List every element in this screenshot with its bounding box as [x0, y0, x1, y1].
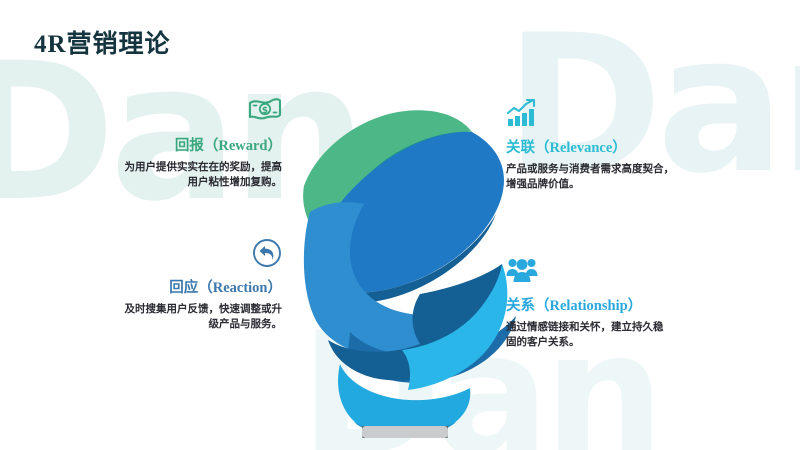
page-title: 4R营销理论 — [34, 24, 171, 60]
bar-chart-growth-icon — [506, 98, 716, 132]
concept-block-reward: $ 回报（Reward） 为用户提供实实在在的奖励，提高 用户粘性增加复购。 — [86, 96, 282, 190]
concept-block-relevance: 关联（Relevance） 产品或服务与消费者需求高度契合， 增强品牌价值。 — [506, 98, 716, 192]
block-body-line: 级产品与服务。 — [86, 317, 282, 332]
block-heading: 关联（Relevance） — [506, 136, 716, 157]
block-body-line: 及时搜集用户反馈，快速调整或升 — [86, 302, 282, 317]
bulb-screw-base — [362, 426, 448, 438]
svg-text:$: $ — [262, 106, 268, 116]
slide-canvas: Dan Dan Dan 4R营销理论 — [0, 0, 800, 450]
block-body-line: 固的客户关系。 — [506, 335, 718, 350]
block-heading: 回报（Reward） — [86, 134, 282, 155]
block-body-line: 通过情感链接和关怀，建立持久稳 — [506, 320, 718, 335]
people-group-icon — [506, 256, 718, 290]
block-body: 通过情感链接和关怀，建立持久稳 固的客户关系。 — [506, 320, 718, 350]
block-body: 及时搜集用户反馈，快速调整或升 级产品与服务。 — [86, 302, 282, 332]
block-body: 产品或服务与消费者需求高度契合， 增强品牌价值。 — [506, 162, 716, 192]
block-heading: 回应（Reaction） — [86, 276, 282, 297]
concept-block-relationship: 关系（Relationship） 通过情感链接和关怀，建立持久稳 固的客户关系。 — [506, 256, 718, 350]
circular-reply-arrow-icon — [86, 238, 282, 272]
spiral-lightbulb-graphic — [288, 78, 520, 438]
block-body: 为用户提供实实在在的奖励，提高 用户粘性增加复购。 — [86, 160, 282, 190]
block-body-line: 用户粘性增加复购。 — [86, 175, 282, 190]
block-body-line: 为用户提供实实在在的奖励，提高 — [86, 160, 282, 175]
concept-block-reaction: 回应（Reaction） 及时搜集用户反馈，快速调整或升 级产品与服务。 — [86, 238, 282, 332]
banknote-dollar-icon: $ — [86, 96, 282, 130]
block-heading: 关系（Relationship） — [506, 294, 718, 315]
block-body-line: 产品或服务与消费者需求高度契合， — [506, 162, 716, 177]
block-body-line: 增强品牌价值。 — [506, 177, 716, 192]
